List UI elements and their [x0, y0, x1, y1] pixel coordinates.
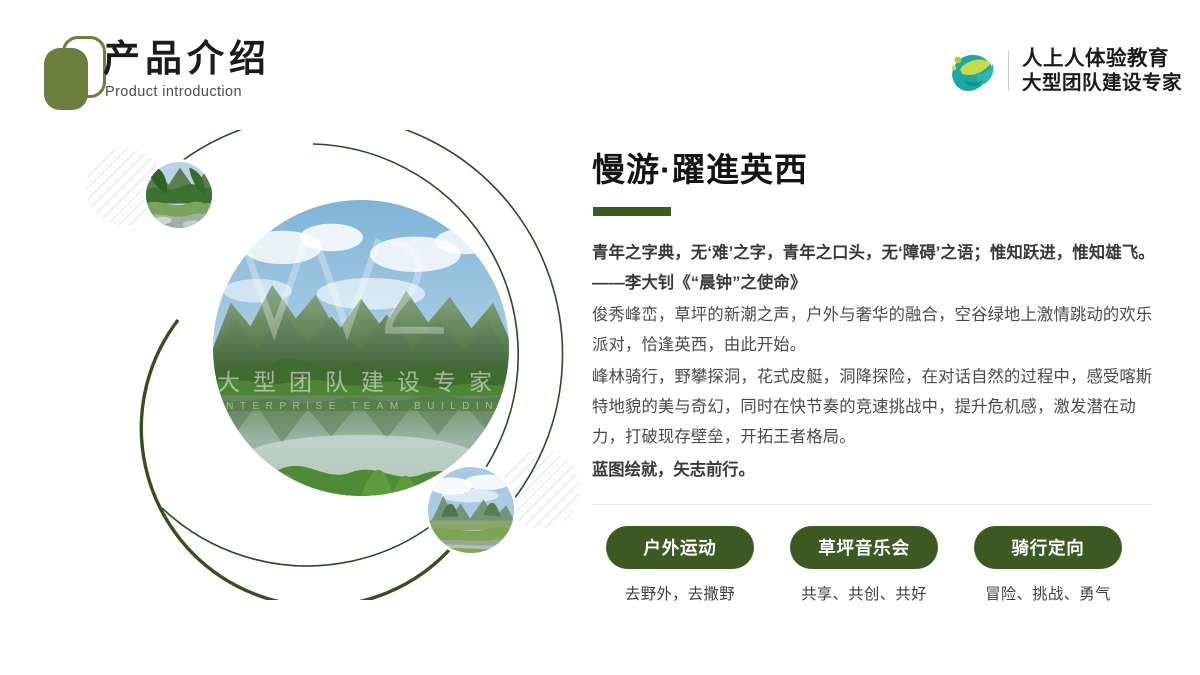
- content-headline: 慢游·躍進英西: [592, 150, 1162, 190]
- page-subtitle: Product introduction: [105, 84, 271, 100]
- brand-logo: 人上人体验教育 大型团队建设专家: [946, 45, 1182, 97]
- closing-line: 蓝图绘就，矢志前行。: [592, 455, 1162, 485]
- brand-divider: [1008, 51, 1009, 91]
- feature-list: 户外运动 去野外，去撒野 草坪音乐会 共享、共创、共好 骑行定向 冒险、挑战、勇…: [592, 526, 1162, 604]
- accent-rule: [593, 207, 671, 216]
- thumbnail-photo-2: [428, 467, 514, 553]
- feature-subtitle-2: 共享、共创、共好: [776, 582, 952, 604]
- feature-item-3: 骑行定向 冒险、挑战、勇气: [960, 526, 1136, 604]
- rounded-rect-logo-icon: [42, 36, 108, 112]
- logo-filled-shape: [44, 48, 88, 110]
- brand-text: 人上人体验教育 大型团队建设专家: [1022, 47, 1182, 94]
- thumbnail-photo-1: [146, 162, 212, 228]
- main-photo: 大型团队建设专家 ENTERPRISE TEAM BUILDING: [213, 200, 509, 496]
- feature-subtitle-3: 冒险、挑战、勇气: [960, 582, 1136, 604]
- feature-pill-2[interactable]: 草坪音乐会: [790, 526, 938, 569]
- brand-tagline: 大型团队建设专家: [1022, 72, 1182, 95]
- slide-root: 产品介绍 Product introduction 人上人体验教育 大型团队建设…: [0, 0, 1200, 675]
- page-title-group: 产品介绍 Product introduction: [103, 38, 271, 100]
- quote-text: 青年之字典，无‘难’之字，青年之口头，无‘障碍’之语；惟知跃进，惟知雄飞。——李…: [592, 238, 1162, 298]
- visual-composition: 大型团队建设专家 ENTERPRISE TEAM BUILDING: [60, 130, 580, 600]
- content-column: 慢游·躍進英西 青年之字典，无‘难’之字，青年之口头，无‘障碍’之语；惟知跃进，…: [592, 150, 1162, 604]
- feature-subtitle-1: 去野外，去撒野: [592, 582, 768, 604]
- brand-name: 人上人体验教育: [1022, 47, 1182, 71]
- page-title: 产品介绍: [103, 38, 271, 81]
- body-paragraph-1: 俊秀峰峦，草坪的新潮之声，户外与奢华的融合，空谷绿地上激情跳动的欢乐派对，恰逢英…: [592, 300, 1162, 360]
- body-paragraph-2: 峰林骑行，野攀探洞，花式皮艇，洞降探险，在对话自然的过程中，感受喀斯特地貌的美与…: [592, 362, 1162, 452]
- feature-item-1: 户外运动 去野外，去撒野: [592, 526, 768, 604]
- feature-pill-1[interactable]: 户外运动: [606, 526, 754, 569]
- feature-pill-3[interactable]: 骑行定向: [974, 526, 1122, 569]
- leaf-circle-logo-icon: [946, 45, 998, 97]
- section-divider: [592, 504, 1152, 505]
- feature-item-2: 草坪音乐会 共享、共创、共好: [776, 526, 952, 604]
